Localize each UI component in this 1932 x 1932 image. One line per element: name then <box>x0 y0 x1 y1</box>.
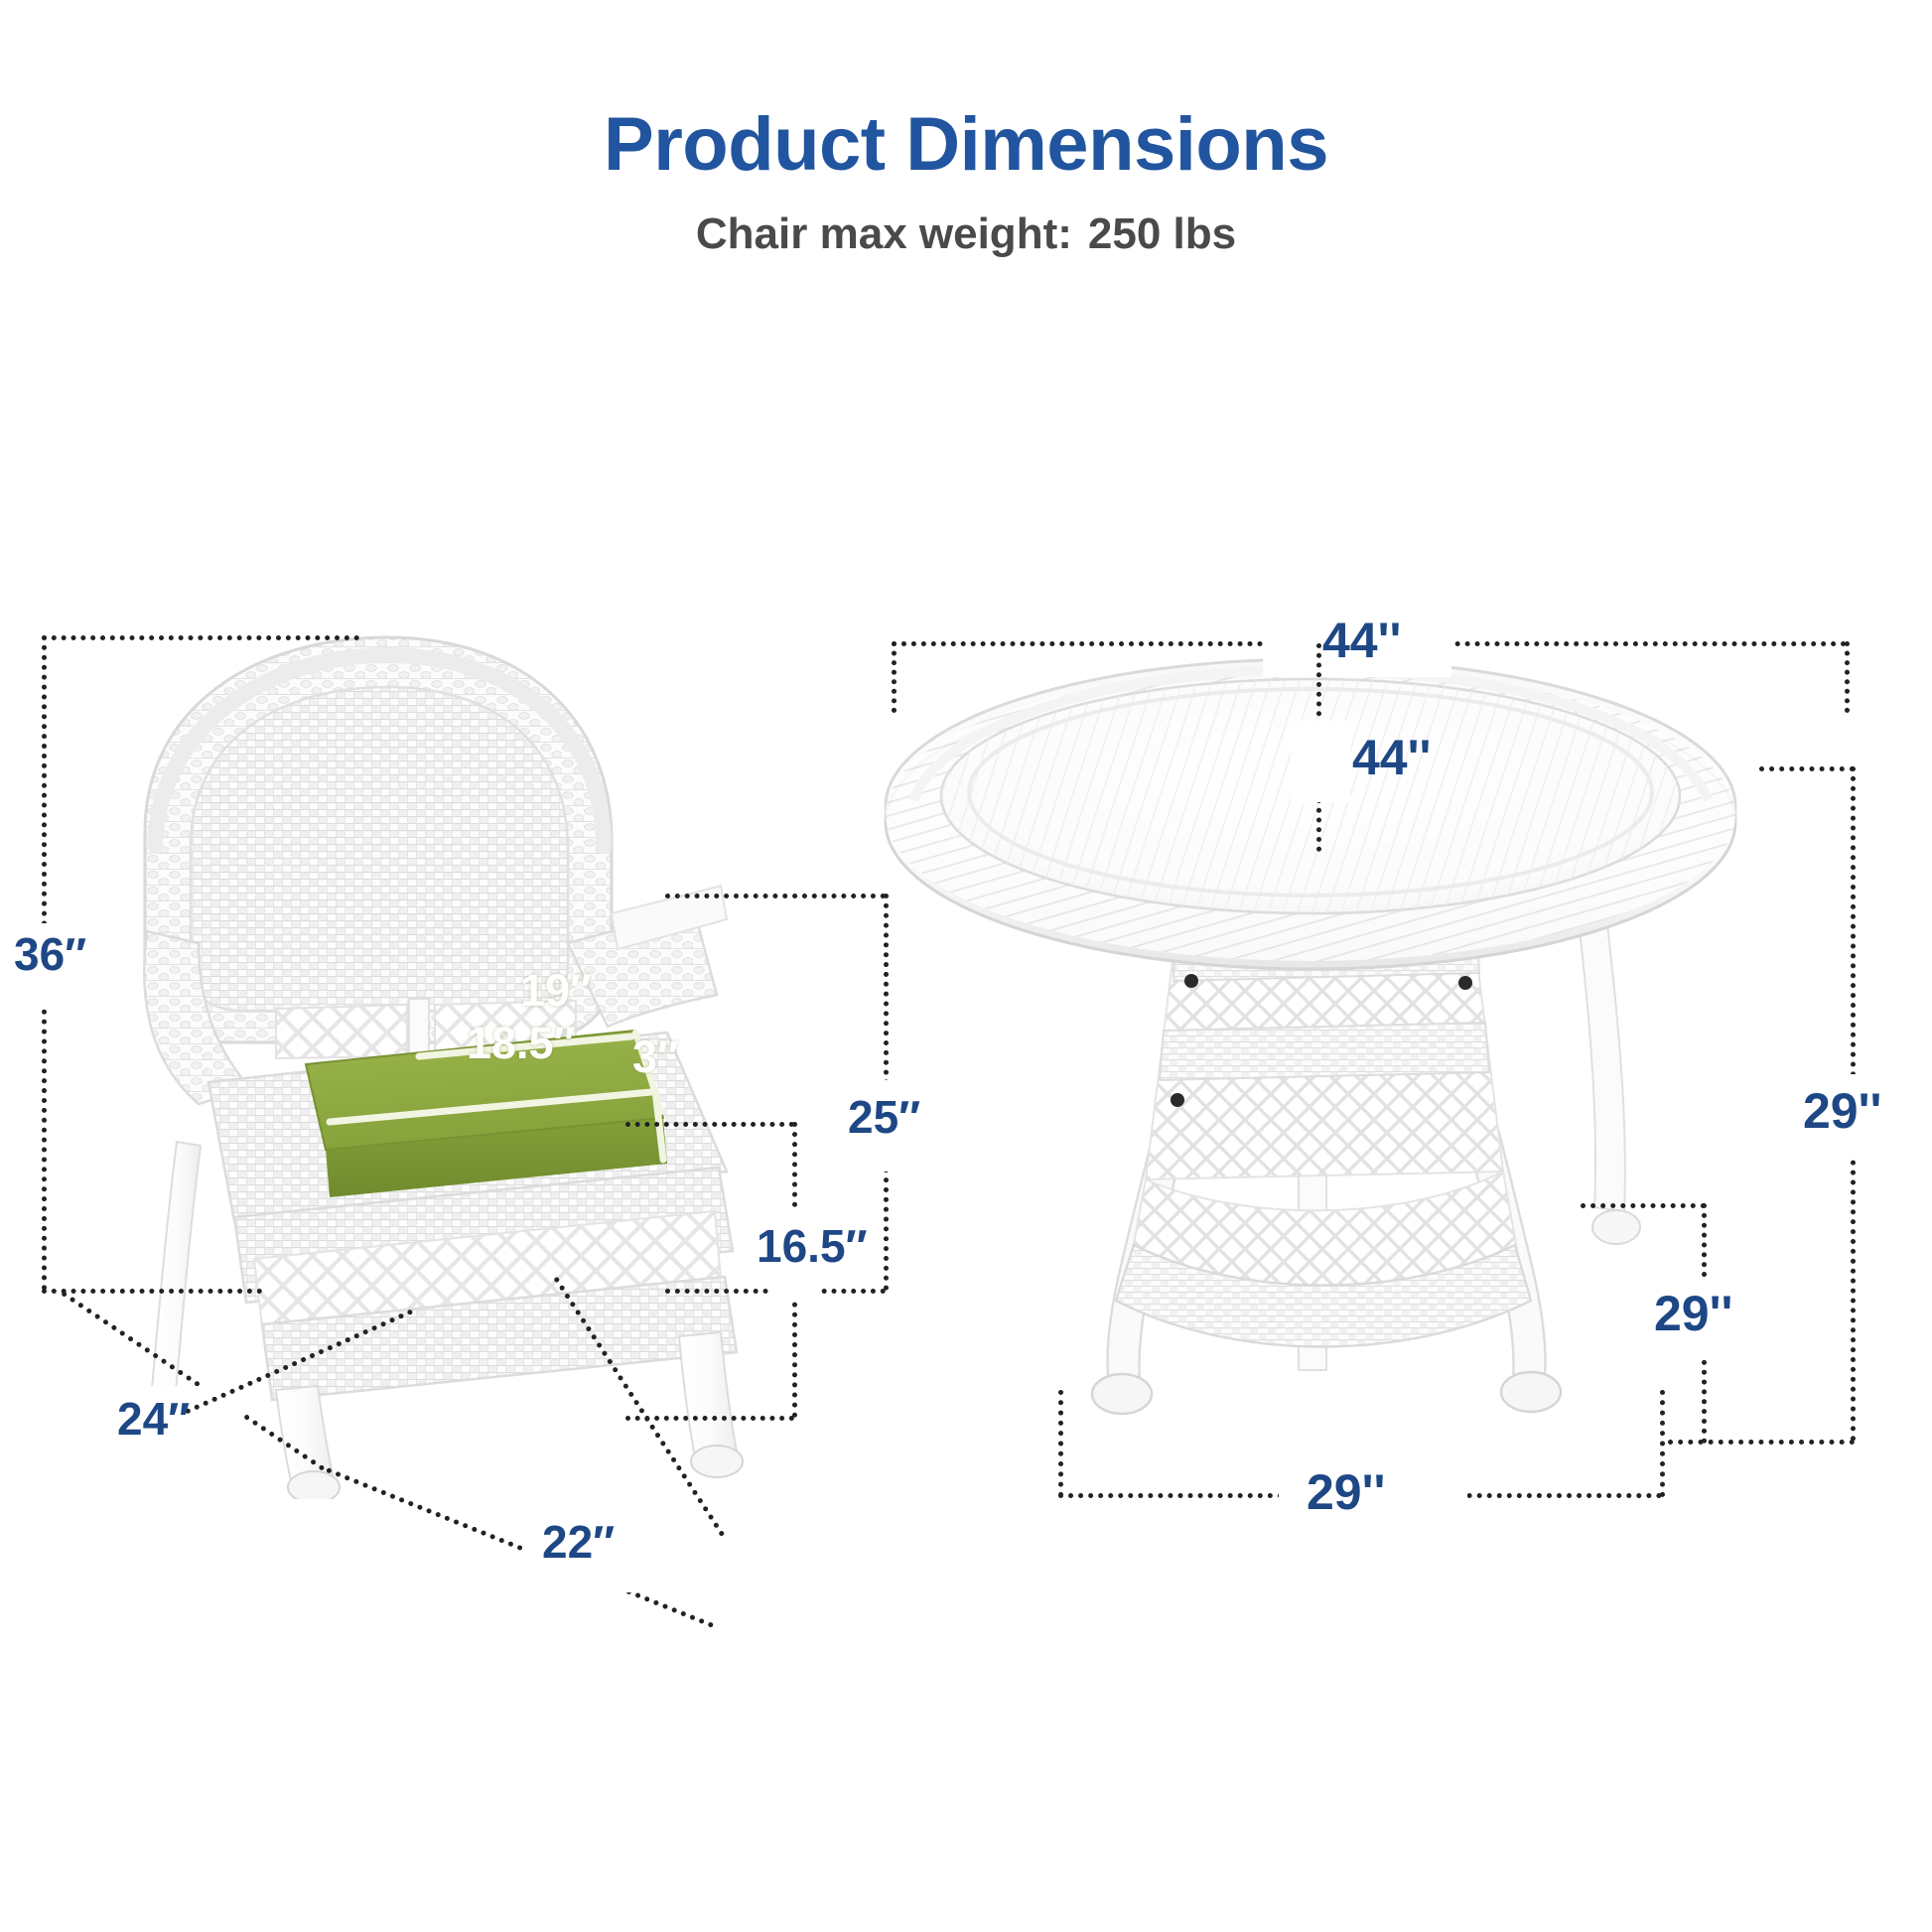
cushion-width-label: 19″ <box>520 968 592 1013</box>
chair-guide-top <box>42 635 359 640</box>
chair-guide-25-top <box>665 894 886 898</box>
table-guide-base-right-tick <box>1660 1390 1665 1497</box>
max-weight-value: 250 lbs <box>1088 209 1236 258</box>
product-dimensions-page: Product Dimensions Chair max weight:250 … <box>0 0 1932 1932</box>
page-subtitle: Chair max weight:250 lbs <box>0 183 1932 256</box>
table-diameter-top-label: 44'' <box>1322 616 1401 665</box>
table-guide-29right-bottom <box>1668 1440 1855 1445</box>
cushion-thickness-label: 3″ <box>632 1035 679 1079</box>
table-guide-29right-top <box>1759 766 1855 771</box>
cushion-depth-label: 18.5″ <box>467 1021 575 1065</box>
table-base-height-label: 29'' <box>1654 1289 1732 1338</box>
chair-guide-165-top <box>625 1122 794 1127</box>
chair-width-label: 22″ <box>542 1519 615 1565</box>
max-weight-label: Chair max weight: <box>696 209 1072 258</box>
chair-guide-bottom-left <box>42 1289 262 1294</box>
page-title: Product Dimensions <box>0 0 1932 183</box>
table-guide-top-right-tick <box>1845 641 1850 713</box>
table-diameter-inner-label: 44'' <box>1352 733 1431 782</box>
table-guide-29inner-top <box>1581 1203 1706 1208</box>
header: Product Dimensions Chair max weight:250 … <box>0 0 1932 256</box>
chair-seat-height-label: 16.5″ <box>757 1223 868 1269</box>
chair-height-label: 36″ <box>14 931 86 977</box>
mask-44-inner <box>1291 721 1350 802</box>
table-guide-top-left-tick <box>892 641 897 713</box>
table-base-width-label: 29'' <box>1307 1467 1385 1517</box>
table-height-right-label: 29'' <box>1803 1086 1881 1136</box>
chair-depth-label: 24″ <box>117 1396 190 1442</box>
table-guide-base-left-tick <box>1058 1390 1063 1497</box>
